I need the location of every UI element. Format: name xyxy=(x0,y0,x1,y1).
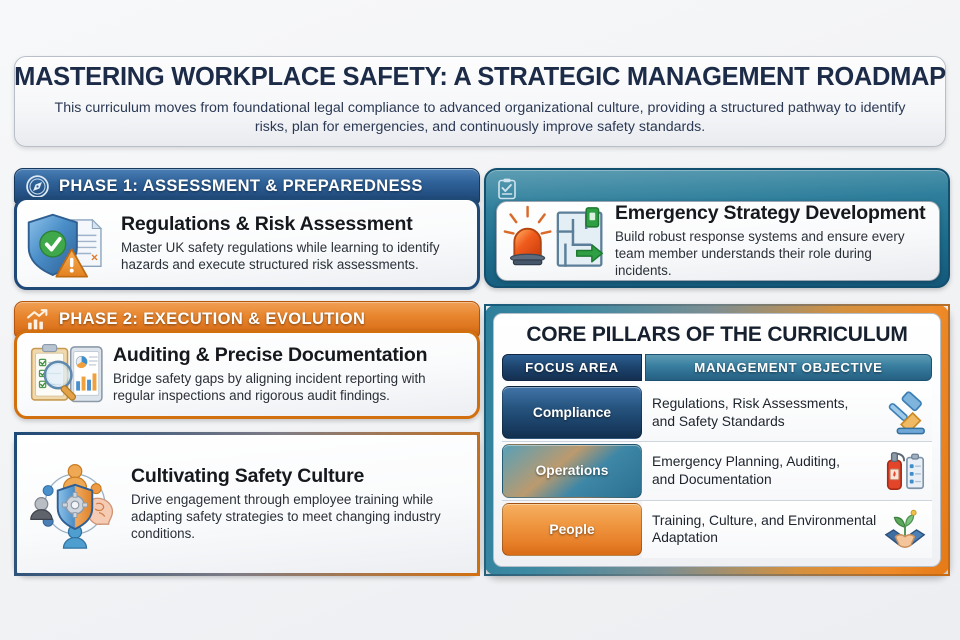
focus-area-cell: Compliance xyxy=(502,386,642,439)
objective-line-1: Training, Culture, and Environmental xyxy=(652,512,878,530)
table-row[interactable]: Operations Emergency Planning, Auditing,… xyxy=(502,442,932,500)
growth-bar-chart-icon xyxy=(25,307,50,332)
infographic-canvas: MASTERING WORKPLACE SAFETY: A STRATEGIC … xyxy=(0,0,960,640)
column-header-focus-area: FOCUS AREA xyxy=(502,354,642,381)
culture-card-title: Cultivating Safety Culture xyxy=(131,465,463,487)
emergency-card-desc: Build robust response systems and ensure… xyxy=(615,228,929,280)
culture-card[interactable]: Cultivating Safety Culture Drive engagem… xyxy=(14,432,480,576)
page-title: MASTERING WORKPLACE SAFETY: A STRATEGIC … xyxy=(14,64,946,92)
phase-1-card-desc: Master UK safety regulations while learn… xyxy=(121,239,463,274)
focus-area-label: Operations xyxy=(536,463,609,478)
objective-line-1: Emergency Planning, Auditing, xyxy=(652,453,878,471)
focus-area-label: People xyxy=(549,522,594,537)
emergency-card-title: Emergency Strategy Development xyxy=(615,202,929,224)
title-banner: MASTERING WORKPLACE SAFETY: A STRATEGIC … xyxy=(14,56,946,147)
clipboard-check-icon xyxy=(495,177,519,201)
fire-extinguisher-clipboard-icon xyxy=(882,448,928,494)
culture-card-desc: Drive engagement through employee traini… xyxy=(131,491,463,543)
phase-2-card-desc: Bridge safety gaps by aligning incident … xyxy=(113,370,463,405)
compass-icon xyxy=(25,174,50,199)
culture-card-body: Cultivating Safety Culture Drive engagem… xyxy=(131,465,463,543)
focus-area-cell: Operations xyxy=(502,444,642,497)
emergency-card-body: Emergency Strategy Development Build rob… xyxy=(615,202,929,280)
objective-line-2: Adaptation xyxy=(652,529,878,547)
objective-cell: Emergency Planning, Auditing, and Docume… xyxy=(642,442,932,499)
gavel-icon xyxy=(882,390,928,436)
objective-cell: Regulations, Risk Assessments, and Safet… xyxy=(642,384,932,441)
phase-2-card-body: Auditing & Precise Documentation Bridge … xyxy=(113,344,463,404)
table-row[interactable]: Compliance Regulations, Risk Assessments… xyxy=(502,384,932,442)
phase-2-card-title: Auditing & Precise Documentation xyxy=(113,344,463,366)
phase-1-label: PHASE 1: ASSESSMENT & PREPAREDNESS xyxy=(59,177,423,196)
objective-line-1: Regulations, Risk Assessments, xyxy=(652,395,878,413)
table-row[interactable]: People Training, Culture, and Environmen… xyxy=(502,501,932,558)
column-header-focus-area-label: FOCUS AREA xyxy=(525,360,619,375)
objective-line-2: and Documentation xyxy=(652,471,878,489)
phase-1-card[interactable]: Regulations & Risk Assessment Master UK … xyxy=(14,197,480,290)
phase-2-card[interactable]: Auditing & Precise Documentation Bridge … xyxy=(14,330,480,419)
objective-line-2: and Safety Standards xyxy=(652,413,878,431)
people-network-shield-gear-brain-icon xyxy=(27,456,123,552)
objective-cell: Training, Culture, and Environmental Ada… xyxy=(642,501,932,558)
column-header-management-objective-label: MANAGEMENT OBJECTIVE xyxy=(694,360,882,375)
focus-area-label: Compliance xyxy=(533,405,611,420)
objective-text: Emergency Planning, Auditing, and Docume… xyxy=(652,453,878,488)
shield-check-document-warning-icon xyxy=(27,201,113,287)
emergency-card[interactable]: Emergency Strategy Development Build rob… xyxy=(496,201,940,281)
focus-area-cell: People xyxy=(502,503,642,556)
pillars-table: FOCUS AREA MANAGEMENT OBJECTIVE Complian… xyxy=(502,354,932,558)
objective-text: Training, Culture, and Environmental Ada… xyxy=(652,512,878,547)
column-header-management-objective: MANAGEMENT OBJECTIVE xyxy=(645,354,932,381)
objective-text: Regulations, Risk Assessments, and Safet… xyxy=(652,395,878,430)
alarm-siren-floorplan-exit-icon xyxy=(503,203,607,279)
core-pillars-inner: CORE PILLARS OF THE CURRICULUM FOCUS ARE… xyxy=(493,313,941,567)
pillars-table-header: FOCUS AREA MANAGEMENT OBJECTIVE xyxy=(502,354,932,381)
emergency-panel[interactable]: Emergency Strategy Development Build rob… xyxy=(484,168,950,288)
page-subtitle: This curriculum moves from foundational … xyxy=(40,99,920,137)
phase-1-card-title: Regulations & Risk Assessment xyxy=(121,213,463,235)
core-pillars-panel[interactable]: CORE PILLARS OF THE CURRICULUM FOCUS ARE… xyxy=(484,304,950,576)
clipboard-magnifier-tablet-icon xyxy=(27,336,105,414)
core-pillars-title: CORE PILLARS OF THE CURRICULUM xyxy=(502,320,932,354)
phase-2-label: PHASE 2: EXECUTION & EVOLUTION xyxy=(59,310,365,329)
phase-1-card-body: Regulations & Risk Assessment Master UK … xyxy=(121,213,463,273)
handshake-plant-icon xyxy=(882,506,928,552)
